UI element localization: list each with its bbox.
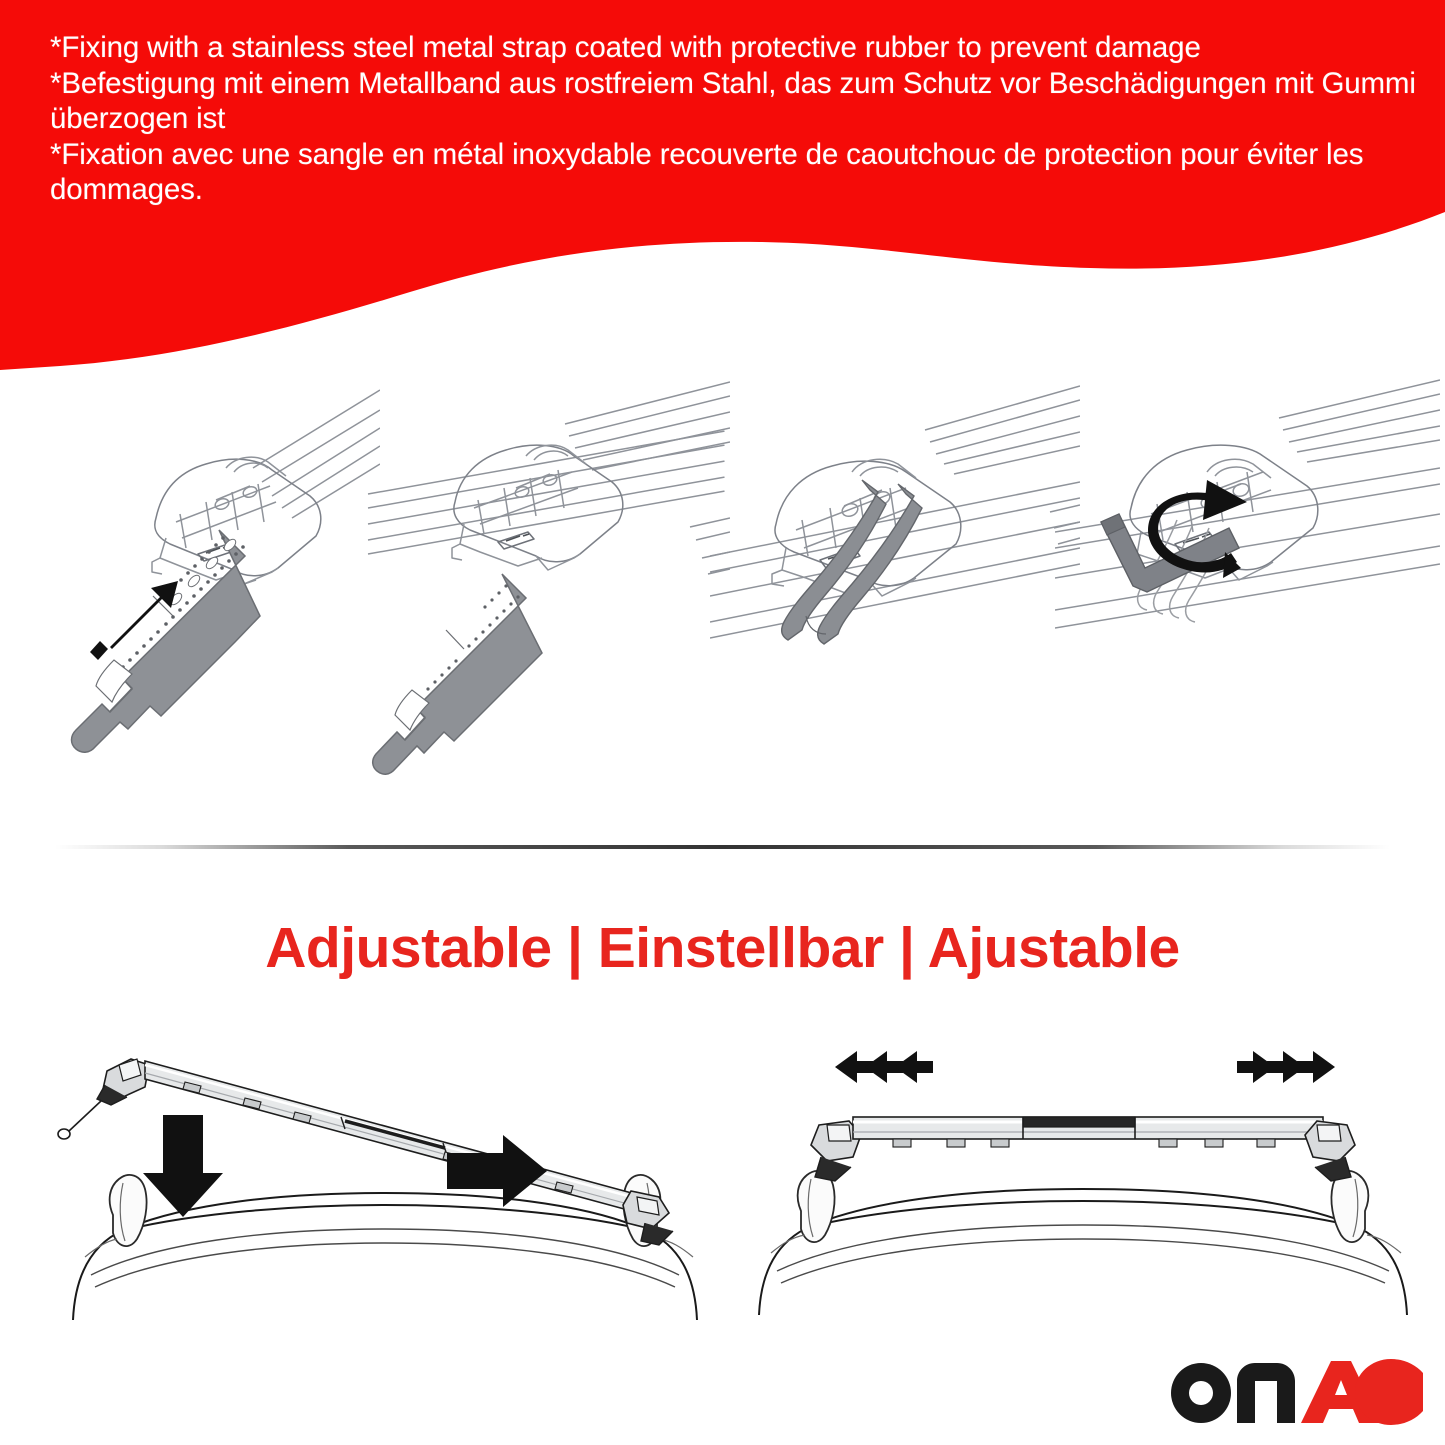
crossbar <box>811 1117 1355 1181</box>
step-3-illustration <box>710 372 1080 827</box>
arrow-right-icon <box>447 1135 547 1207</box>
adjustable-headline: Adjustable | Einstellbar | Ajustable <box>0 915 1445 981</box>
adjust-width-diagram <box>735 1025 1435 1325</box>
step-2-illustration <box>360 372 730 827</box>
arrow-down-icon <box>143 1115 223 1217</box>
omac-logo <box>1165 1355 1425 1427</box>
omac-logo-mark <box>1165 1355 1425 1427</box>
section-divider <box>55 845 1390 849</box>
metal-strap <box>72 530 261 752</box>
metal-strap <box>373 574 542 774</box>
product-infographic-page: *Fixing with a stainless steel metal str… <box>0 0 1445 1445</box>
adjustable-diagrams-row <box>0 1025 1445 1325</box>
logo-letter-m <box>1237 1363 1295 1423</box>
mount-crossbar-illustration <box>45 1025 735 1325</box>
step-3-wrap-strap <box>710 372 1080 827</box>
step-2-position-foot <box>360 372 730 827</box>
mount-crossbar-diagram <box>45 1025 735 1325</box>
step-1-insert-strap <box>10 372 380 827</box>
header-banner: *Fixing with a stainless steel metal str… <box>0 0 1445 370</box>
installation-steps-row <box>0 372 1445 827</box>
step-4-tighten-bolt <box>1055 372 1440 827</box>
banner-description-text: *Fixing with a stainless steel metal str… <box>50 30 1420 208</box>
logo-letter-o <box>1171 1363 1231 1423</box>
step-1-illustration <box>10 372 380 827</box>
arrows-right-icon <box>1237 1051 1335 1083</box>
adjust-width-illustration <box>735 1025 1435 1325</box>
arrows-left-icon <box>835 1051 933 1083</box>
step-4-illustration <box>1055 372 1440 827</box>
